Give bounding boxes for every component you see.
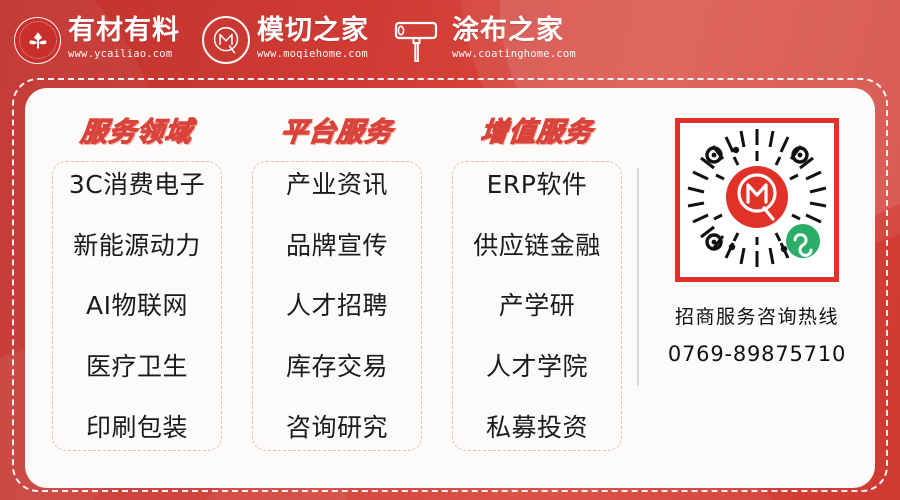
brand-url: www.moqiehome.com [257, 47, 369, 63]
list-item[interactable]: 人才学院 [486, 350, 588, 384]
list-item[interactable]: ERP软件 [487, 168, 588, 202]
service-columns: 服务领域 3C消费电子 新能源动力 AI物联网 医疗卫生 印刷包装 平台服务 产… [25, 110, 637, 474]
column-heading: 平台服务 [279, 110, 395, 149]
column-heading: 增值服务 [479, 110, 595, 149]
list-item[interactable]: 印刷包装 [86, 411, 188, 445]
column-items-box: 产业资讯 品牌宣传 人才招聘 库存交易 咨询研究 [252, 161, 422, 451]
contact-panel: 招商服务咨询热线 0769-89875710 [639, 110, 875, 474]
brand-name-cn: 有材有料 [68, 17, 180, 45]
column-heading: 服务领域 [79, 110, 195, 149]
column-items-box: 3C消费电子 新能源动力 AI物联网 医疗卫生 印刷包装 [52, 161, 222, 451]
brand-name-cn: 模切之家 [257, 17, 369, 45]
list-item[interactable]: 医疗卫生 [86, 350, 188, 384]
list-item[interactable]: 人才招聘 [286, 289, 388, 323]
list-item[interactable]: 新能源动力 [73, 229, 201, 263]
brand-ycailiao[interactable]: 有材有料 www.ycailiao.com [14, 17, 180, 64]
brand-moqiehome[interactable]: 模切之家 www.moqiehome.com [202, 16, 369, 64]
wechat-miniprogram-badge-icon [786, 224, 820, 258]
paint-roller-icon [391, 15, 445, 65]
column-service-areas: 服务领域 3C消费电子 新能源动力 AI物联网 医疗卫生 印刷包装 [37, 110, 237, 474]
list-item[interactable]: 私募投资 [486, 411, 588, 445]
column-value-added-services: 增值服务 ERP软件 供应链金融 产学研 人才学院 私募投资 [437, 110, 637, 474]
hotline-number[interactable]: 0769-89875710 [668, 342, 846, 366]
hotline-label: 招商服务咨询热线 [675, 302, 839, 329]
content-card: 服务领域 3C消费电子 新能源动力 AI物联网 医疗卫生 印刷包装 平台服务 产… [25, 88, 875, 488]
brand-name-cn: 涂布之家 [452, 17, 576, 45]
list-item[interactable]: 库存交易 [286, 350, 388, 384]
ycailiao-seal-icon [14, 17, 61, 64]
list-item[interactable]: 3C消费电子 [69, 168, 205, 202]
column-items-box: ERP软件 供应链金融 产学研 人才学院 私募投资 [452, 161, 622, 451]
seal-inner-ring [19, 21, 57, 59]
brand-url: www.ycailiao.com [68, 47, 180, 63]
brand-coatinghome[interactable]: 涂布之家 www.coatinghome.com [391, 15, 576, 65]
column-platform-services: 平台服务 产业资讯 品牌宣传 人才招聘 库存交易 咨询研究 [237, 110, 437, 474]
list-item[interactable]: 供应链金融 [473, 229, 601, 263]
brand-header: 有材有料 www.ycailiao.com 模切之家 www.moqiehome… [0, 0, 900, 80]
list-item[interactable]: 咨询研究 [286, 411, 388, 445]
list-item[interactable]: 产学研 [499, 289, 576, 323]
list-item[interactable]: AI物联网 [86, 289, 188, 323]
list-item[interactable]: 品牌宣传 [286, 229, 388, 263]
wechat-miniprogram-qr-code[interactable] [675, 118, 839, 282]
list-item[interactable]: 产业资讯 [286, 168, 388, 202]
mq-circle-icon [202, 16, 250, 64]
brand-url: www.coatinghome.com [452, 47, 576, 63]
